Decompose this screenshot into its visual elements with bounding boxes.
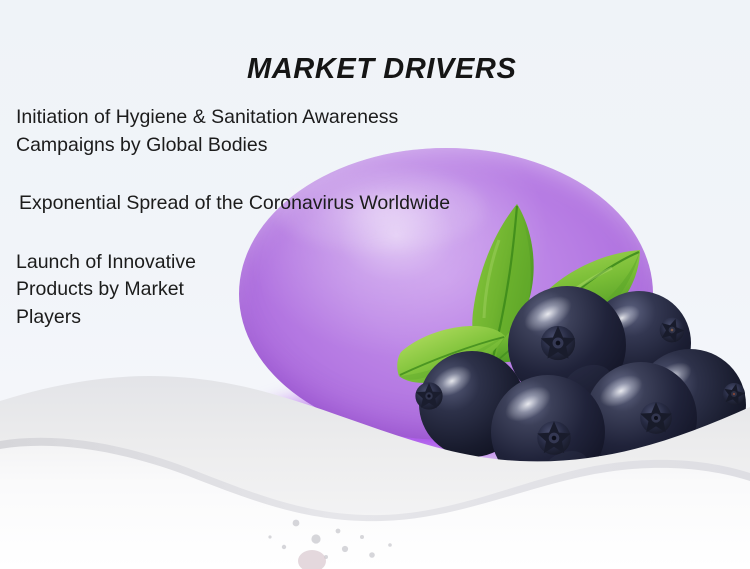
page-title: MARKET DRIVERS: [247, 51, 516, 87]
market-drivers-slide: MARKET DRIVERS Initiation of Hygiene & S…: [0, 0, 750, 569]
driver-item-1: Initiation of Hygiene & Sanitation Aware…: [0, 104, 470, 159]
market-drivers-list: Initiation of Hygiene & Sanitation Aware…: [0, 104, 470, 331]
driver-item-2: Exponential Spread of the Coronavirus Wo…: [0, 190, 470, 218]
driver-item-3: Launch of Innovative Products by Market …: [0, 249, 231, 332]
